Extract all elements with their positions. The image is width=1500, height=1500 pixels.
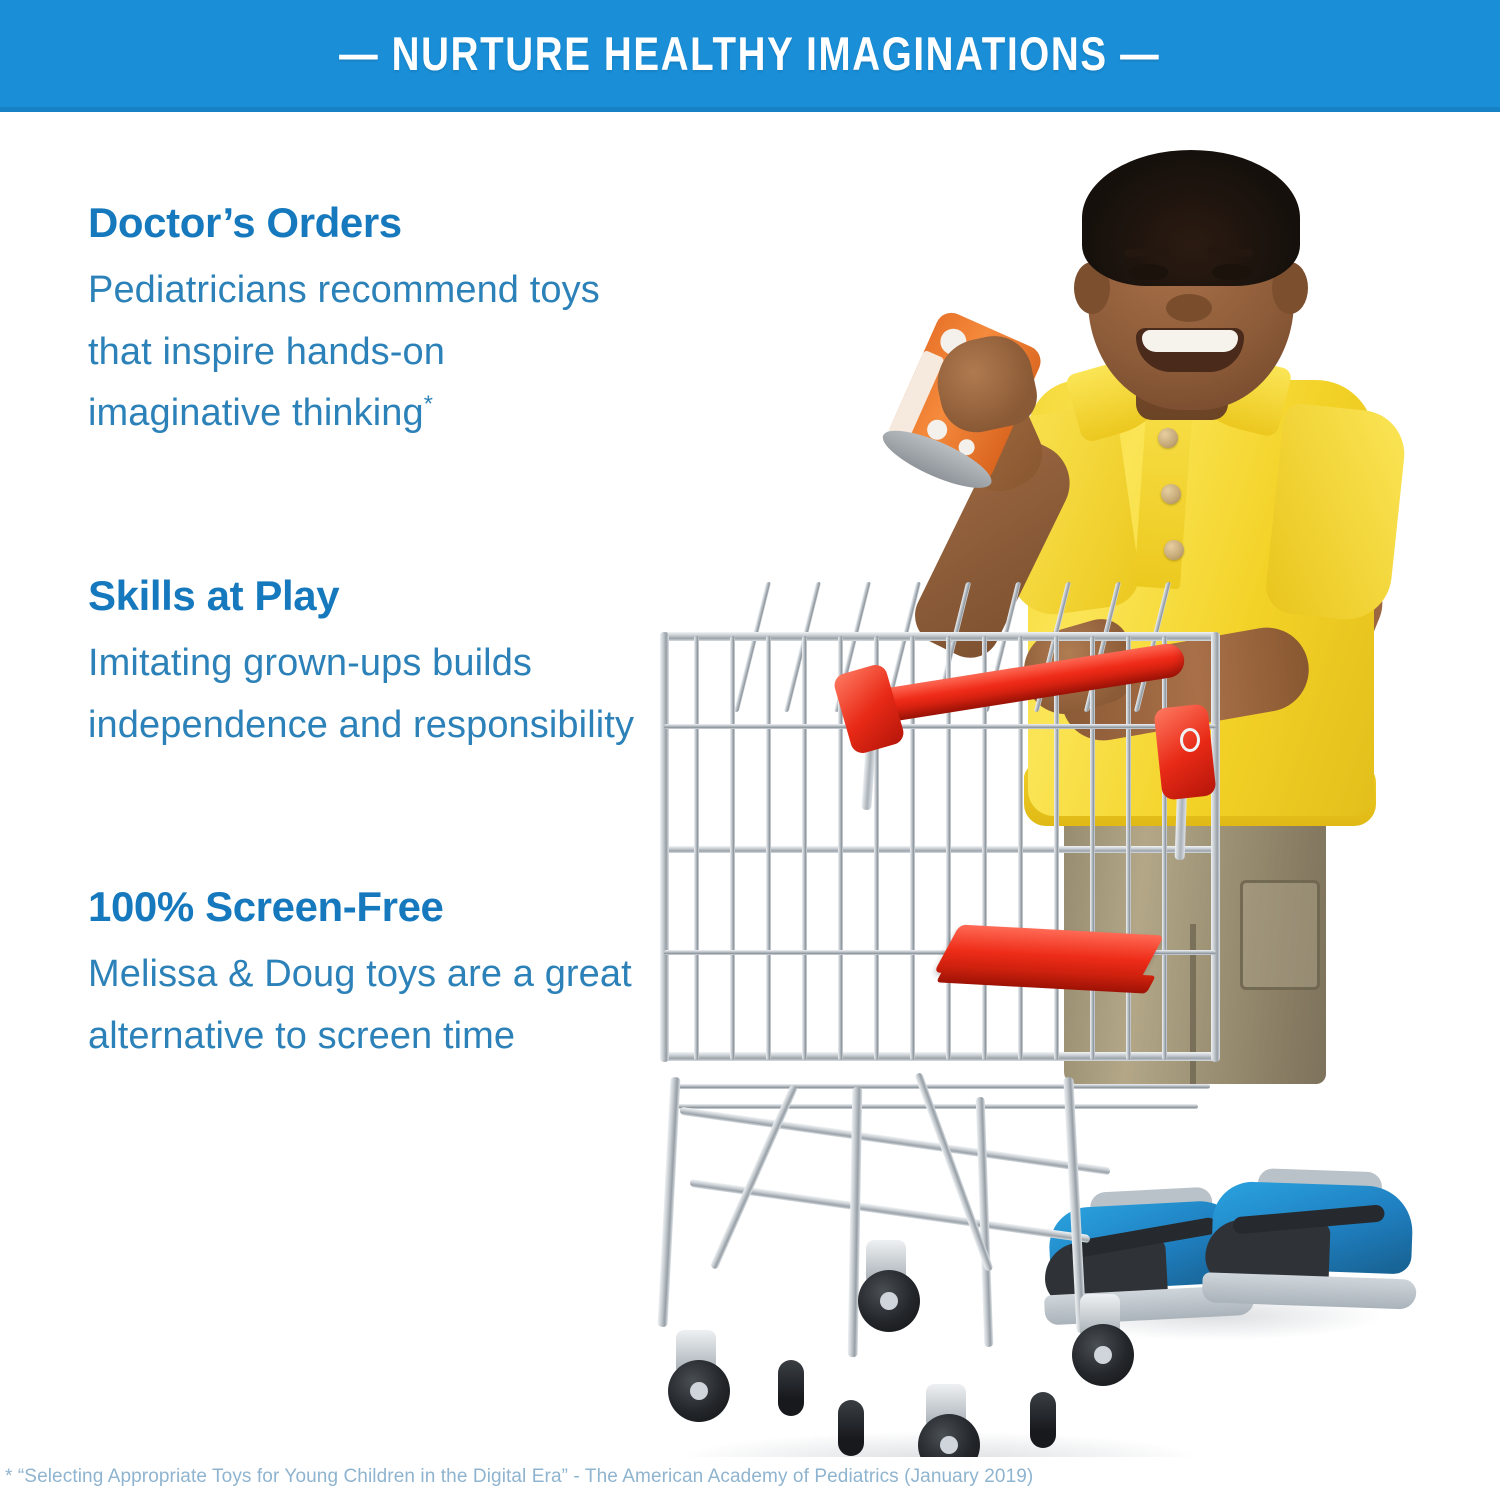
feature-heading: Doctor’s Orders — [88, 200, 688, 246]
basket-mid-rail — [660, 846, 1220, 853]
header-banner: — NURTURE HEALTHY IMAGINATIONS — — [0, 0, 1500, 112]
cart-wire — [664, 724, 1216, 729]
cart-lower-frame — [650, 1077, 1250, 1417]
feature-list: Doctor’s Orders Pediatricians recommend … — [88, 200, 688, 1067]
frame-leg — [848, 1087, 863, 1357]
product-photo — [620, 112, 1500, 1457]
footnote-citation: * “Selecting Appropriate Toys for Young … — [5, 1466, 1033, 1488]
feature-block-screen-free: 100% Screen-Free Melissa & Doug toys are… — [88, 884, 688, 1067]
frame-rail — [680, 1107, 1110, 1175]
cart-wire — [1162, 636, 1167, 1060]
frame-foot-cap — [838, 1400, 864, 1456]
basket-bottom-rail — [660, 1052, 1220, 1061]
feature-body-text: Pediatricians recommend toys that inspir… — [88, 269, 600, 434]
basket-left-post — [660, 632, 669, 1062]
cart-wire — [766, 636, 771, 1060]
footnote-marker: * — [424, 391, 433, 417]
basket-right-post — [1211, 632, 1220, 1062]
caster-hub — [1094, 1346, 1112, 1364]
header-title: — NURTURE HEALTHY IMAGINATIONS — — [339, 26, 1160, 81]
feature-body: Melissa & Doug toys are a great alternat… — [88, 944, 648, 1067]
caster-hub — [940, 1436, 958, 1454]
frame-foot-cap — [778, 1360, 804, 1416]
caster-hub — [880, 1292, 898, 1310]
cart-wire — [802, 636, 807, 1060]
toy-shopping-cart — [620, 112, 1500, 1457]
cart-wire — [1126, 636, 1131, 1060]
promo-infographic: — NURTURE HEALTHY IMAGINATIONS — Doctor’… — [0, 0, 1500, 1500]
frame-foot-cap — [1030, 1392, 1056, 1448]
cart-wire — [1090, 636, 1095, 1060]
feature-block-skills-at-play: Skills at Play Imitating grown-ups build… — [88, 573, 688, 756]
cart-wire — [1054, 636, 1059, 1060]
cart-wire — [730, 636, 735, 1060]
handle-cap-right — [1153, 703, 1216, 800]
feature-heading: Skills at Play — [88, 573, 688, 619]
feature-block-doctors-orders: Doctor’s Orders Pediatricians recommend … — [88, 200, 688, 445]
handle-cap-rivet — [1180, 728, 1200, 752]
feature-body: Pediatricians recommend toys that inspir… — [88, 260, 648, 445]
basket-top-rail — [660, 632, 1220, 641]
caster-hub — [690, 1382, 708, 1400]
feature-heading: 100% Screen-Free — [88, 884, 688, 930]
cart-wire — [694, 636, 699, 1060]
frame-leg — [657, 1077, 680, 1327]
feature-body: Imitating grown-ups builds independence … — [88, 633, 648, 756]
